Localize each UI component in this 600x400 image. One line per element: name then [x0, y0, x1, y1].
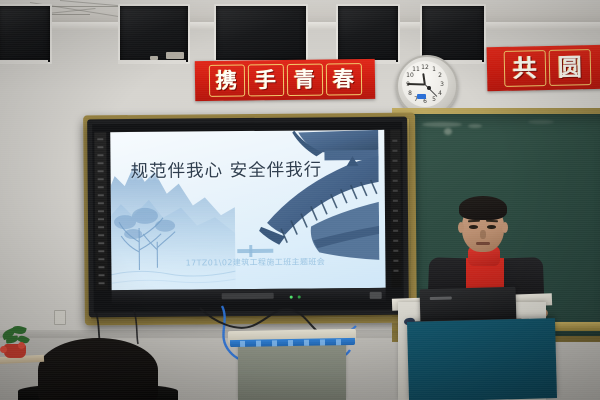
flower-icon — [0, 346, 7, 353]
eye — [469, 225, 478, 229]
nose — [480, 230, 486, 239]
wall-socket — [54, 310, 66, 325]
ear — [458, 222, 464, 233]
mouth — [476, 242, 490, 245]
classroom-photo: 携 手 青 春 共 圆 12 1 2 3 4 5 6 7 8 9 10 11 — [0, 0, 600, 400]
podium-stand — [238, 338, 346, 400]
ear — [502, 222, 508, 233]
teal-panel — [407, 318, 557, 400]
laptop-logo — [430, 296, 452, 300]
flower-icon — [18, 342, 25, 349]
eye — [487, 225, 496, 229]
student-head-silhouette — [38, 338, 158, 400]
hair — [459, 196, 507, 220]
